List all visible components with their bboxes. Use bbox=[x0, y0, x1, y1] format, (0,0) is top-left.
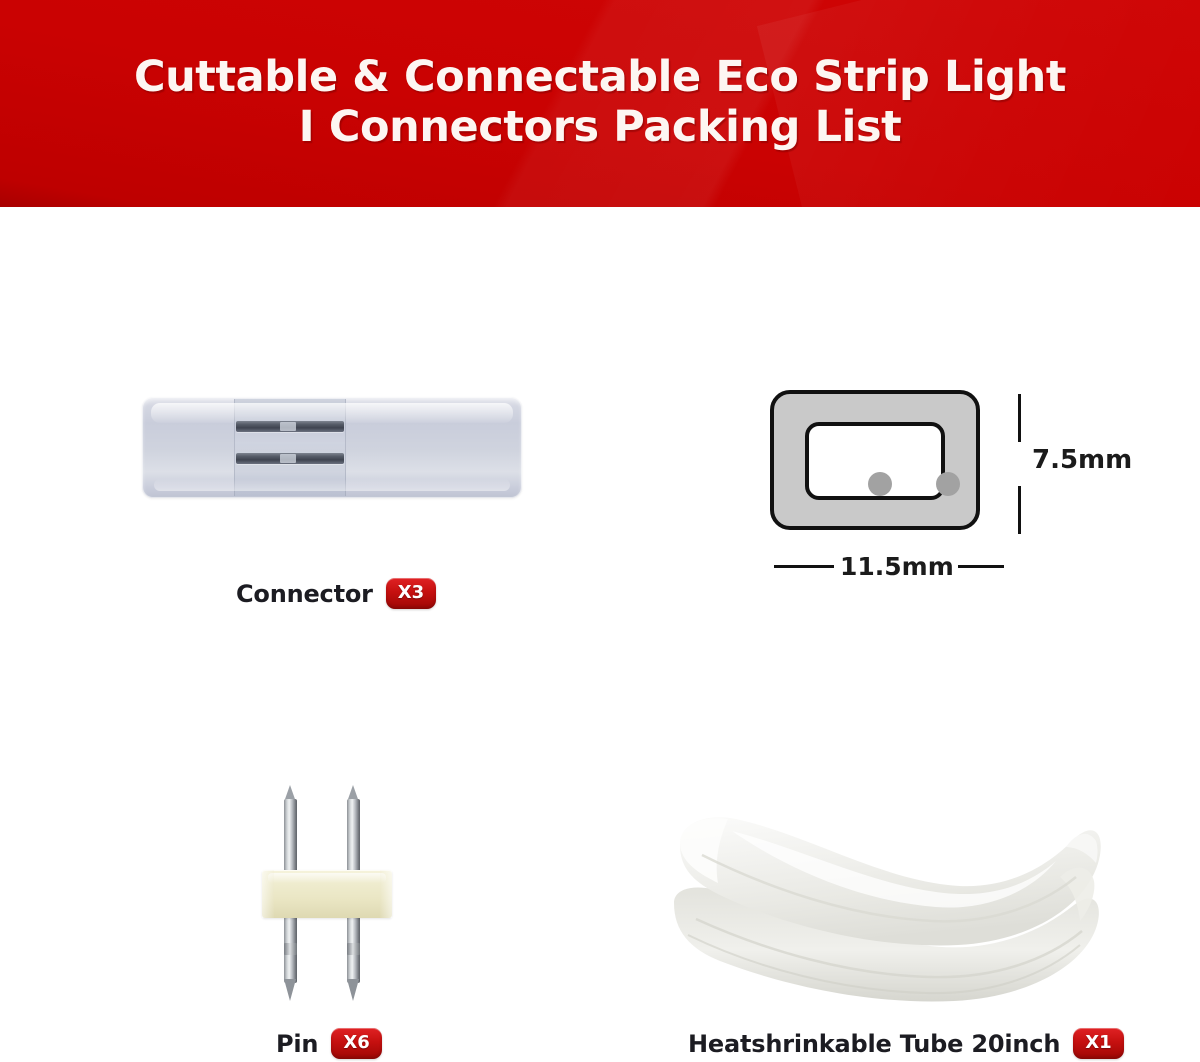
width-dimension-line-left bbox=[774, 565, 834, 568]
caption-connector-label: Connector bbox=[236, 580, 373, 608]
pin-bridge-left-edge bbox=[262, 870, 274, 918]
page-title: Cuttable & Connectable Eco Strip Light I… bbox=[0, 52, 1200, 152]
caption-heatshrinkable-tube-label: Heatshrinkable Tube 20inch bbox=[688, 1030, 1060, 1058]
pin-bridge-highlight bbox=[268, 873, 386, 883]
pin-right-bottom-tip-icon bbox=[347, 979, 359, 1001]
connector-photo bbox=[142, 397, 522, 498]
cross-section-hole-left bbox=[868, 472, 892, 496]
pin-left-lower-collar bbox=[284, 943, 297, 955]
quantity-badge-pin: X6 bbox=[331, 1028, 381, 1059]
pin-bridge-right-edge bbox=[380, 870, 392, 918]
connector-pin-slot-upper-notch bbox=[280, 422, 296, 431]
height-dimension-line-upper bbox=[1018, 394, 1021, 442]
pin-photo bbox=[262, 783, 392, 998]
connector-cross-section-diagram: 7.5mm 11.5mm bbox=[770, 390, 1090, 575]
cross-section-hole-right bbox=[936, 472, 960, 496]
heatshrinkable-tube-photo bbox=[662, 785, 1104, 1013]
height-dimension-label: 7.5mm bbox=[1032, 445, 1132, 475]
page-title-line-1: Cuttable & Connectable Eco Strip Light bbox=[0, 52, 1200, 102]
connector-pin-slot-upper bbox=[236, 421, 344, 432]
width-dimension-label: 11.5mm bbox=[840, 552, 954, 582]
caption-pin-label: Pin bbox=[276, 1030, 318, 1058]
connector-pin-slot-lower-notch bbox=[280, 454, 296, 463]
caption-connector: Connector X3 bbox=[236, 578, 436, 609]
quantity-badge-connector: X3 bbox=[386, 578, 436, 609]
pin-left-bottom-tip-icon bbox=[284, 979, 296, 1001]
cross-section-inner-cavity bbox=[805, 422, 945, 500]
page-title-line-2: I Connectors Packing List bbox=[0, 102, 1200, 152]
height-dimension-line-lower bbox=[1018, 486, 1021, 534]
caption-heatshrinkable-tube: Heatshrinkable Tube 20inch X1 bbox=[688, 1028, 1124, 1059]
cross-section-outer-body bbox=[770, 390, 980, 530]
quantity-badge-heatshrinkable-tube: X1 bbox=[1073, 1028, 1123, 1059]
header-banner: Cuttable & Connectable Eco Strip Light I… bbox=[0, 0, 1200, 207]
connector-bottom-highlight bbox=[154, 479, 510, 491]
caption-pin: Pin X6 bbox=[276, 1028, 382, 1059]
connector-pin-slot-lower bbox=[236, 453, 344, 464]
connector-top-highlight bbox=[151, 403, 513, 423]
width-dimension: 11.5mm bbox=[774, 552, 1004, 582]
pin-right-lower-collar bbox=[347, 943, 360, 955]
pin-plastic-bridge bbox=[262, 870, 392, 918]
width-dimension-line-right bbox=[958, 565, 1004, 568]
